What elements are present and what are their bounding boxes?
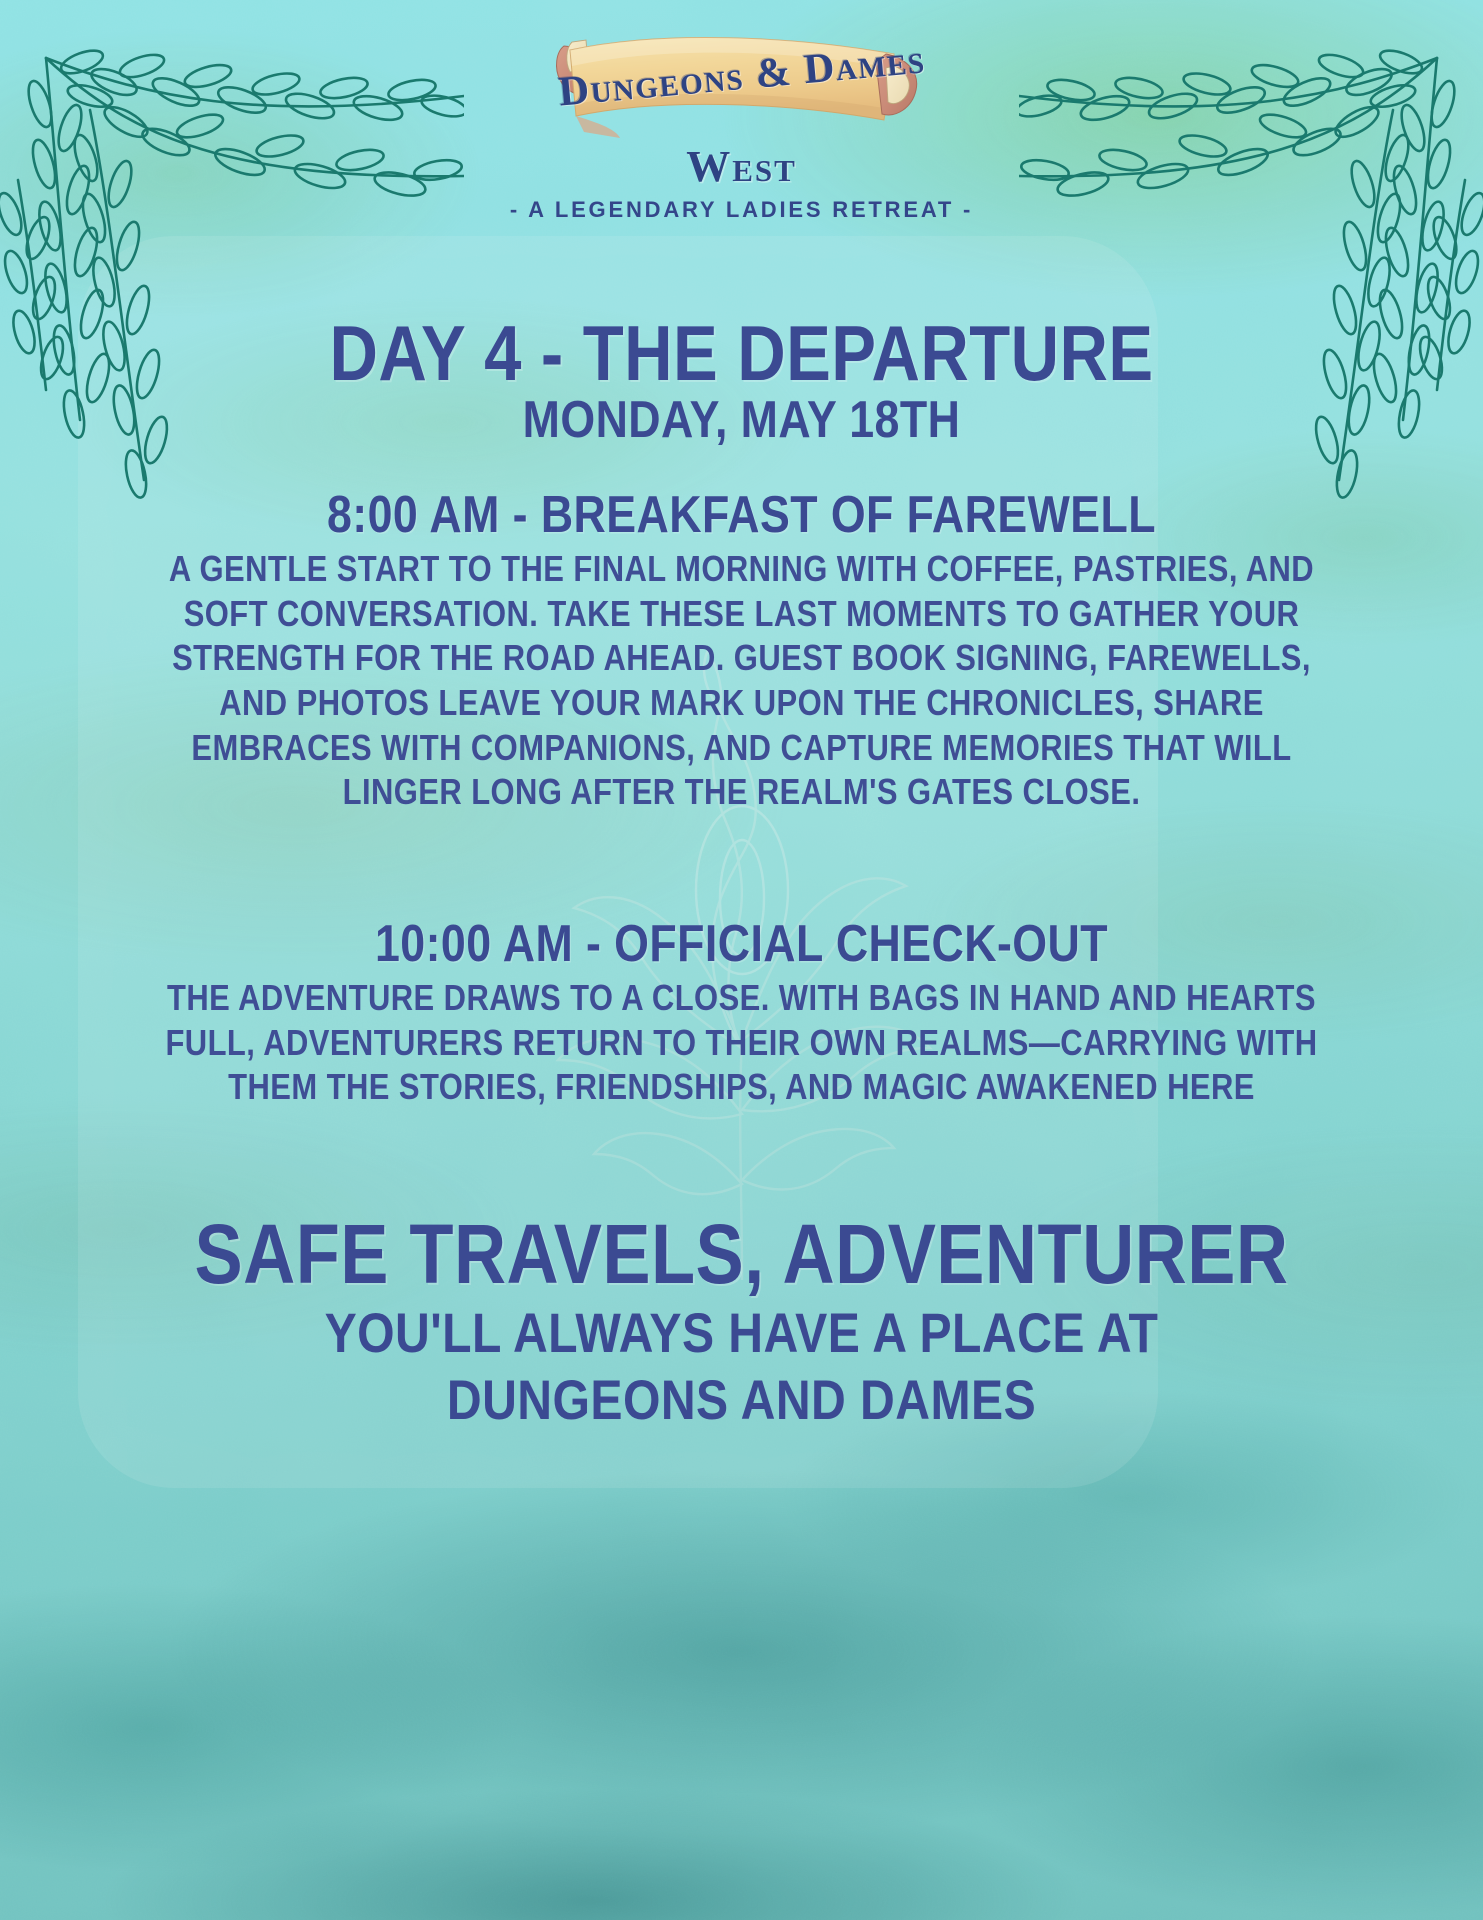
day-date: MONDAY, MAY 18TH xyxy=(155,393,1327,448)
event-title: 8:00 AM - BREAKFAST OF FAREWELL xyxy=(155,488,1327,543)
event-block: 8:00 AM - BREAKFAST OF FAREWELL A GENTLE… xyxy=(60,488,1423,815)
page-title: DAY 4 - THE DEPARTURE xyxy=(155,316,1327,391)
event-block: 10:00 AM - OFFICIAL CHECK-OUT THE ADVENT… xyxy=(60,917,1423,1110)
poster-content: DAY 4 - THE DEPARTURE MONDAY, MAY 18TH 8… xyxy=(60,316,1423,1431)
poster-header: Dungeons & Dames West - A LEGENDARY LADI… xyxy=(0,0,1483,240)
closing-headline: SAFE TRAVELS, ADVENTURER xyxy=(155,1212,1327,1296)
poster-canvas: Dungeons & Dames West - A LEGENDARY LADI… xyxy=(0,0,1483,1920)
retreat-tagline: - A LEGENDARY LADIES RETREAT - xyxy=(510,197,973,223)
event-description: THE ADVENTURE DRAWS TO A CLOSE. WITH BAG… xyxy=(155,976,1327,1110)
closing-block: SAFE TRAVELS, ADVENTURER YOU'LL ALWAYS H… xyxy=(60,1212,1423,1431)
banner-subtitle-west: West xyxy=(686,141,797,192)
section-spacer xyxy=(60,815,1423,877)
event-title: 10:00 AM - OFFICIAL CHECK-OUT xyxy=(155,917,1327,972)
section-spacer xyxy=(60,1110,1423,1172)
closing-line-1: YOU'LL ALWAYS HAVE A PLACE AT xyxy=(155,1302,1327,1364)
closing-line-2: DUNGEONS AND DAMES xyxy=(155,1369,1327,1431)
event-description: A GENTLE START TO THE FINAL MORNING WITH… xyxy=(155,547,1327,815)
